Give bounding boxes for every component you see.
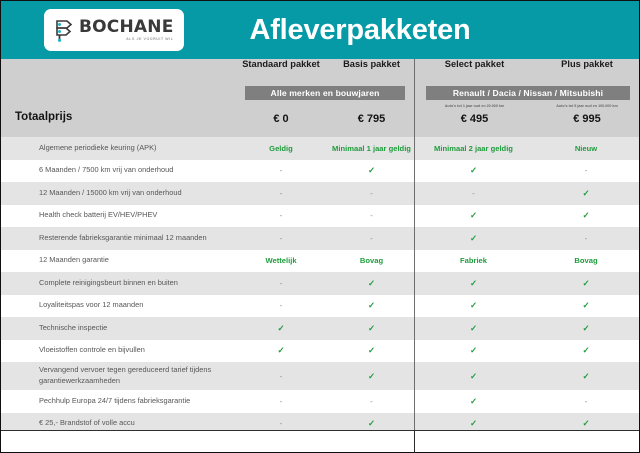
dash-marker: - (280, 211, 283, 220)
check-icon: ✓ (368, 345, 375, 355)
check-icon: ✓ (582, 210, 589, 220)
check-icon: ✓ (470, 345, 477, 355)
table-cell: - (533, 234, 639, 243)
dash-marker: - (280, 189, 283, 198)
table-row: Resterende fabrieksgarantie minimaal 12 … (1, 227, 639, 250)
row-label: Technische inspectie (1, 323, 233, 334)
table-cell: ✓ (329, 345, 414, 356)
column-group-divider (414, 59, 415, 437)
table-cell: Fabriek (414, 256, 533, 265)
table-cell: ✓ (329, 300, 414, 311)
table-cell: ✓ (233, 323, 329, 334)
check-icon: ✓ (368, 371, 375, 381)
row-label: Loyaliteitspas voor 12 maanden (1, 300, 233, 311)
table-cell: ✓ (414, 210, 533, 221)
table-cell: - (233, 166, 329, 175)
table-cell: - (233, 372, 329, 381)
price-standaard: € 0 (233, 113, 329, 125)
table-cell: - (329, 397, 414, 406)
bochane-logo[interactable]: BOCHANE ALS JE VOORUIT WIL (44, 9, 184, 51)
table-row: 12 Maanden / 15000 km vrij van onderhoud… (1, 182, 639, 205)
row-label: Pechhulp Europa 24/7 tijdens fabrieksgar… (1, 396, 233, 407)
cell-value: Wettelijk (265, 256, 296, 265)
check-icon: ✓ (277, 345, 284, 355)
table-cell: - (329, 189, 414, 198)
dash-marker: - (280, 397, 283, 406)
group-bar-alle-merken: Alle merken en bouwjaren (245, 86, 405, 100)
row-label: Health check batterij EV/HEV/PHEV (1, 210, 233, 221)
table-row: 6 Maanden / 7500 km vrij van onderhoud-✓… (1, 160, 639, 183)
table-row: Health check batterij EV/HEV/PHEV--✓✓ (1, 205, 639, 228)
row-label: Complete reinigingsbeurt binnen en buite… (1, 278, 233, 289)
table-cell: ✓ (329, 371, 414, 382)
table-cell: ✓ (414, 300, 533, 311)
check-icon: ✓ (368, 300, 375, 310)
check-icon: ✓ (582, 323, 589, 333)
check-icon: ✓ (470, 165, 477, 175)
table-row: Vloeistoffen controle en bijvullen✓✓✓✓ (1, 340, 639, 363)
row-label: Resterende fabrieksgarantie minimaal 12 … (1, 233, 233, 244)
check-icon: ✓ (582, 418, 589, 428)
row-label: € 25,- Brandstof of volle accu (1, 418, 233, 429)
dash-marker: - (370, 189, 373, 198)
check-icon: ✓ (368, 165, 375, 175)
table-cell: ✓ (329, 323, 414, 334)
table-cell: Minimaal 2 jaar geldig (414, 144, 533, 153)
table-cell: ✓ (329, 165, 414, 176)
check-icon: ✓ (470, 233, 477, 243)
row-label: Vloeistoffen controle en bijvullen (1, 345, 233, 356)
cell-value: Minimaal 2 jaar geldig (434, 144, 513, 153)
table-cell: ✓ (533, 371, 639, 382)
row-label: Algemene periodieke keuring (APK) (1, 143, 233, 154)
table-cell: ✓ (533, 418, 639, 429)
cell-value: Nieuw (575, 144, 597, 153)
dash-marker: - (585, 234, 588, 243)
dash-marker: - (472, 189, 475, 198)
logo-wordmark: BOCHANE (79, 19, 174, 36)
table-cell: - (233, 211, 329, 220)
price-select: € 495 (415, 113, 534, 125)
table-row: Technische inspectie✓✓✓✓ (1, 317, 639, 340)
column-title-basis: Basis pakket (329, 59, 414, 69)
comparison-table: Algemene periodieke keuring (APK)GeldigM… (1, 137, 639, 435)
column-title-plus: Plus pakket (534, 59, 640, 69)
table-cell: ✓ (414, 233, 533, 244)
check-icon: ✓ (582, 371, 589, 381)
table-cell: - (329, 234, 414, 243)
dash-marker: - (585, 166, 588, 175)
table-cell: - (233, 189, 329, 198)
bochane-logo-icon (53, 17, 75, 43)
dash-marker: - (280, 166, 283, 175)
price-basis: € 795 (329, 113, 414, 125)
dash-marker: - (370, 211, 373, 220)
dash-marker: - (280, 279, 283, 288)
table-cell: ✓ (414, 396, 533, 407)
row-label: 12 Maanden garantie (1, 255, 233, 266)
column-subtitle-select: Auto's tot 1 jaar oud en 20.000 km (415, 104, 534, 108)
afleverpakketten-page: BOCHANE ALS JE VOORUIT WIL Afleverpakket… (0, 0, 640, 453)
column-title-standaard: Standaard pakket (233, 59, 329, 69)
table-row: Vervangend vervoer tegen gereduceerd tar… (1, 362, 639, 390)
check-icon: ✓ (368, 278, 375, 288)
dash-marker: - (280, 301, 283, 310)
check-icon: ✓ (470, 371, 477, 381)
table-cell: Bovag (329, 256, 414, 265)
table-cell: Nieuw (533, 144, 639, 153)
table-cell: - (329, 211, 414, 220)
table-cell: ✓ (414, 165, 533, 176)
check-icon: ✓ (368, 418, 375, 428)
column-title-select: Select pakket (415, 59, 534, 69)
row-label: 12 Maanden / 15000 km vrij van onderhoud (1, 188, 233, 199)
logo-tagline: ALS JE VOORUIT WIL (126, 38, 173, 42)
dash-marker: - (370, 234, 373, 243)
table-row: Pechhulp Europa 24/7 tijdens fabrieksgar… (1, 390, 639, 413)
table-cell: ✓ (233, 345, 329, 356)
dash-marker: - (585, 397, 588, 406)
table-cell: ✓ (533, 278, 639, 289)
column-subtitle-plus: Auto's tot 5 jaar oud en 100.000 km (534, 104, 640, 108)
table-cell: Minimaal 1 jaar geldig (329, 144, 414, 153)
dash-marker: - (370, 397, 373, 406)
table-cell: ✓ (414, 418, 533, 429)
dash-marker: - (280, 234, 283, 243)
table-cell: - (533, 397, 639, 406)
dash-marker: - (280, 372, 283, 381)
table-cell: ✓ (533, 188, 639, 199)
price-plus: € 995 (534, 113, 640, 125)
check-icon: ✓ (470, 278, 477, 288)
totaalprijs-label: Totaalprijs (15, 111, 72, 123)
table-cell: - (533, 166, 639, 175)
check-icon: ✓ (582, 300, 589, 310)
check-icon: ✓ (470, 323, 477, 333)
footer-divider (414, 430, 415, 453)
check-icon: ✓ (368, 323, 375, 333)
row-label: Vervangend vervoer tegen gereduceerd tar… (1, 365, 233, 386)
check-icon: ✓ (582, 278, 589, 288)
check-icon: ✓ (582, 188, 589, 198)
check-icon: ✓ (470, 396, 477, 406)
table-cell: ✓ (414, 345, 533, 356)
table-cell: ✓ (414, 323, 533, 334)
table-cell: Wettelijk (233, 256, 329, 265)
check-icon: ✓ (470, 418, 477, 428)
page-header: BOCHANE ALS JE VOORUIT WIL Afleverpakket… (1, 1, 639, 59)
table-cell: Bovag (533, 256, 639, 265)
cell-value: Fabriek (460, 256, 487, 265)
table-cell: ✓ (329, 278, 414, 289)
table-cell: - (233, 279, 329, 288)
table-cell: - (233, 397, 329, 406)
table-cell: ✓ (329, 418, 414, 429)
table-row: Algemene periodieke keuring (APK)GeldigM… (1, 137, 639, 160)
table-cell: Geldig (233, 144, 329, 153)
table-cell: ✓ (414, 278, 533, 289)
table-cell: - (233, 419, 329, 428)
table-cell: ✓ (533, 300, 639, 311)
table-row: Complete reinigingsbeurt binnen en buite… (1, 272, 639, 295)
table-cell: - (414, 189, 533, 198)
table-cell: - (233, 301, 329, 310)
check-icon: ✓ (470, 300, 477, 310)
cell-value: Bovag (360, 256, 383, 265)
cell-value: Minimaal 1 jaar geldig (332, 144, 411, 153)
table-row: 12 Maanden garantieWettelijkBovagFabriek… (1, 250, 639, 273)
dash-marker: - (280, 419, 283, 428)
column-header-block: Totaalprijs Standaard pakket Basis pakke… (1, 59, 639, 137)
table-cell: - (233, 234, 329, 243)
table-cell: ✓ (414, 371, 533, 382)
table-cell: ✓ (533, 210, 639, 221)
footer-area (1, 431, 639, 452)
check-icon: ✓ (470, 210, 477, 220)
table-row: Loyaliteitspas voor 12 maanden-✓✓✓ (1, 295, 639, 318)
check-icon: ✓ (582, 345, 589, 355)
check-icon: ✓ (277, 323, 284, 333)
table-cell: ✓ (533, 323, 639, 334)
row-label: 6 Maanden / 7500 km vrij van onderhoud (1, 165, 233, 176)
cell-value: Bovag (574, 256, 597, 265)
group-bar-renault-dacia-nissan-mitsubishi: Renault / Dacia / Nissan / Mitsubishi (426, 86, 630, 100)
table-cell: ✓ (533, 345, 639, 356)
cell-value: Geldig (269, 144, 293, 153)
